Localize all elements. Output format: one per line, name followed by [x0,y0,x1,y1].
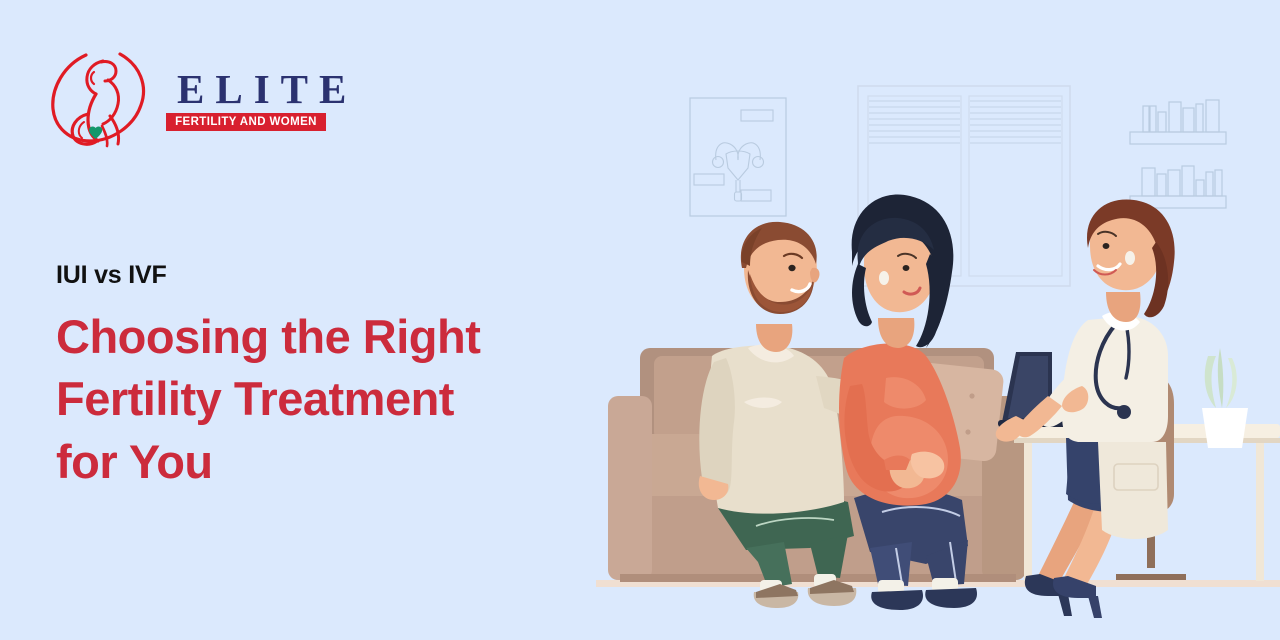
wall-poster-uterus-diagram [690,98,786,216]
bookshelf-lower [1130,166,1226,208]
clinic-consultation-illustration [596,56,1280,640]
bookshelf-upper [1130,100,1226,144]
headline-line-1: Choosing the Right [56,306,596,369]
brand-logo[interactable]: ELITE FERTILITY AND WOMEN [48,42,326,154]
illustration-canvas [596,56,1280,640]
headline-line-3: for You [56,431,596,494]
promo-banner: ELITE FERTILITY AND WOMEN IUI vs IVF Cho… [0,0,1280,640]
eyebrow-text: IUI vs IVF [56,262,596,290]
headline-line-2: Fertility Treatment [56,368,596,431]
brand-name: ELITE [166,69,326,110]
potted-plant [1202,348,1248,448]
headline-block: IUI vs IVF Choosing the Right Fertility … [56,262,596,493]
brand-tagline: FERTILITY AND WOMEN [166,113,326,131]
page-title: Choosing the Right Fertility Treatment f… [56,306,596,494]
brand-wordmark: ELITE FERTILITY AND WOMEN [166,69,326,131]
pregnant-woman-circle-logo-icon [48,42,152,154]
